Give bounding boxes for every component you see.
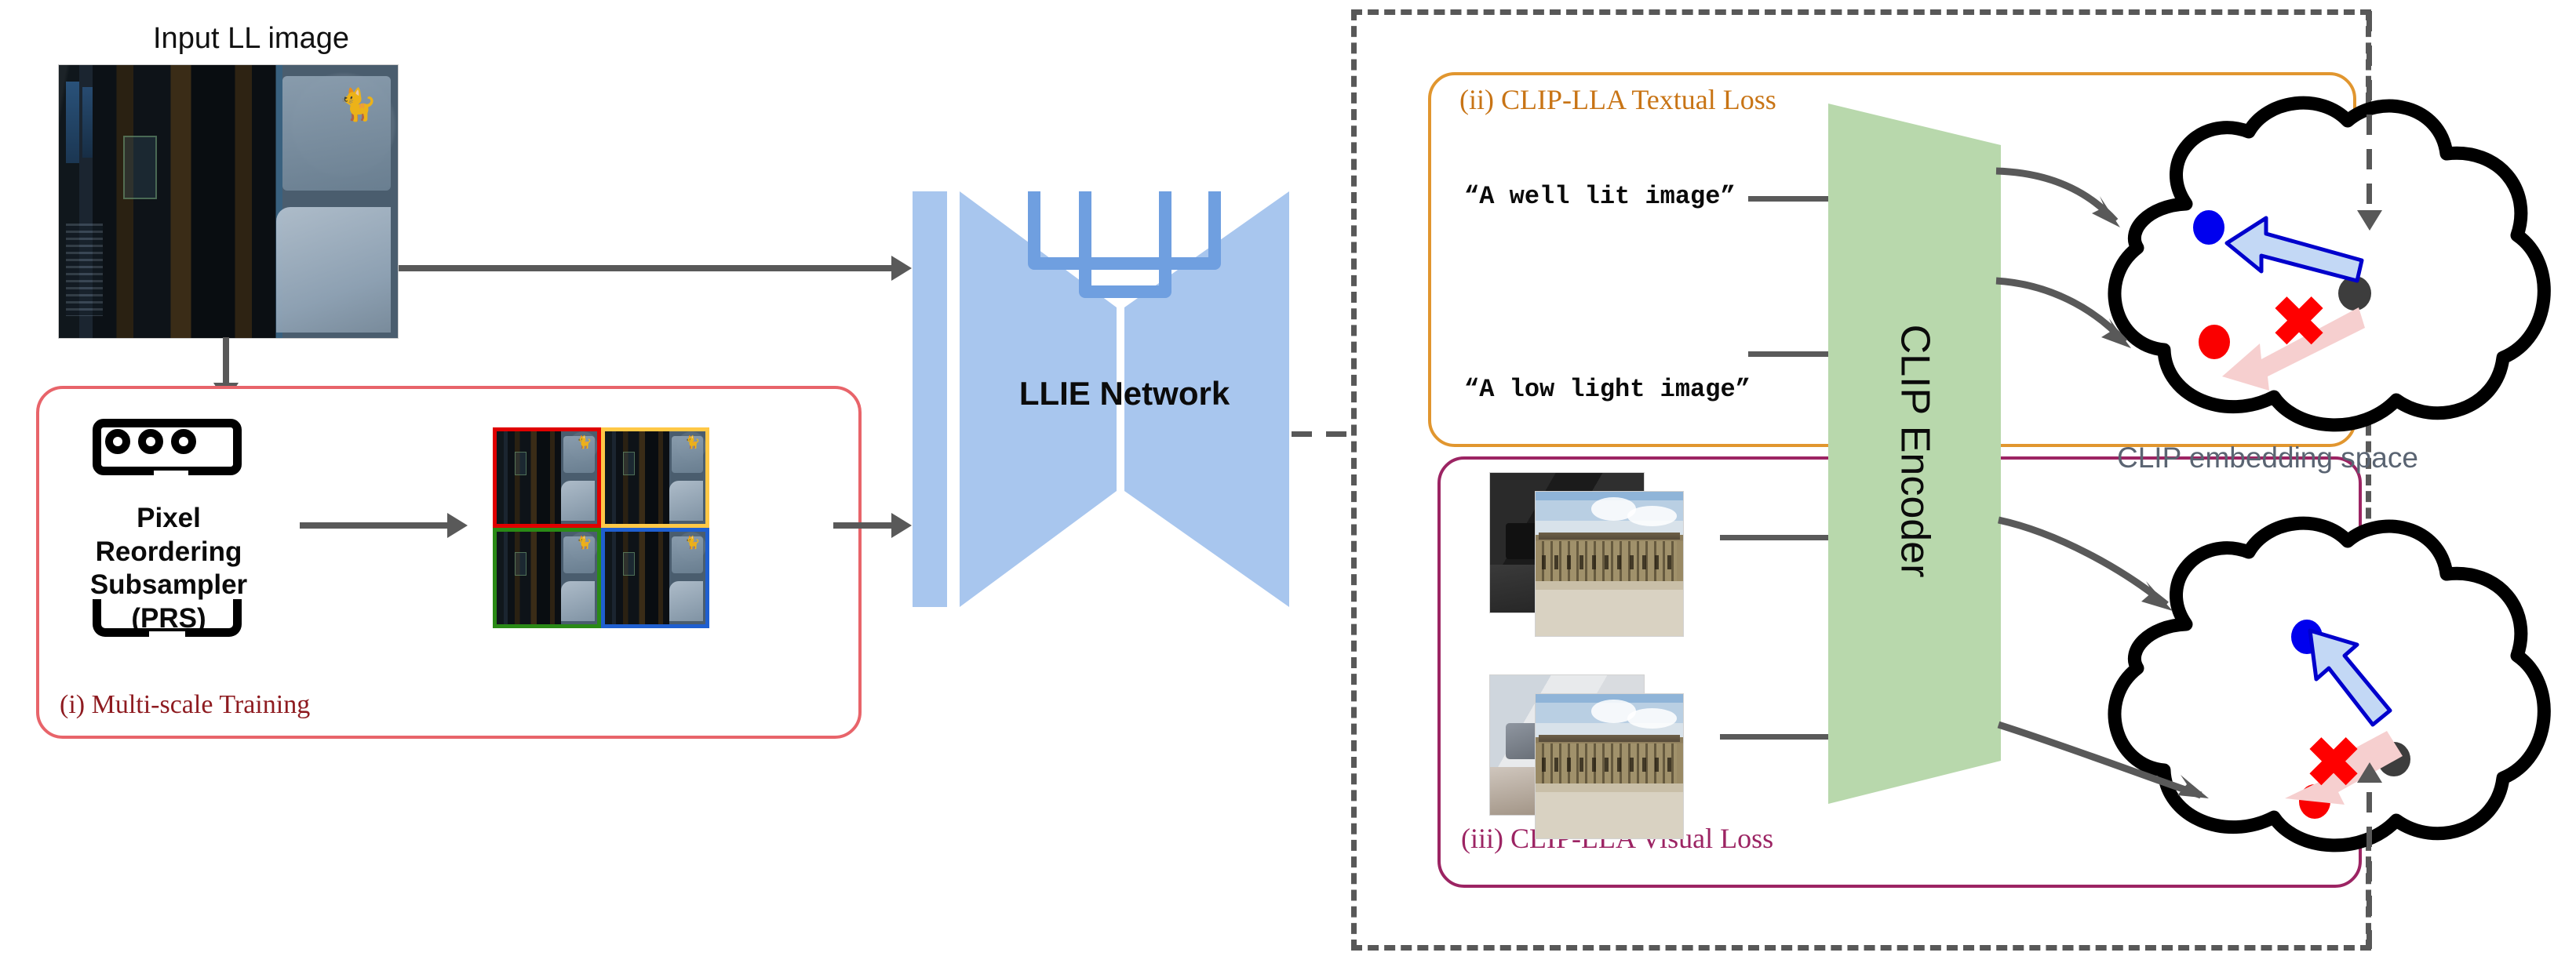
- input-image-title: Input LL image: [110, 22, 392, 56]
- panel-textual-loss-label: (ii) CLIP-LLA Textual Loss: [1459, 83, 1776, 116]
- text-prompt-well-lit: “A well lit image”: [1464, 182, 1736, 211]
- prs-label-line1: Pixel Reordering: [63, 502, 275, 569]
- image-frame-detail: [123, 136, 157, 199]
- prs-module-icon: [93, 419, 242, 475]
- arrow-input-to-prs-line: [223, 337, 229, 386]
- arrow-input-to-network-head: [891, 256, 912, 281]
- network-label: LLIE Network: [960, 375, 1289, 413]
- clip-encoder-label: CLIP Encoder: [1828, 98, 2001, 804]
- image-pair-1: [1489, 472, 1693, 637]
- reject-x-mark-bottom: ✖: [2305, 729, 2362, 797]
- figure-canvas: Input LL image 🐈 (i) Multi-scale Trainin…: [0, 0, 2576, 967]
- line-image1-to-encoder: [1720, 535, 1845, 540]
- clip-encoder-label-text: CLIP Encoder: [1891, 325, 1938, 578]
- feedback-dashed-line-top: [2366, 11, 2372, 213]
- image-pair-2-louvre: [1535, 693, 1684, 839]
- tile-bottom-left: 🐈: [493, 528, 601, 628]
- network-input-bar: [913, 191, 947, 607]
- prs-tile-grid: 🐈 🐈 🐈 🐈: [493, 427, 709, 628]
- text-prompt-low-light: “A low light image”: [1464, 375, 1751, 404]
- arrow-encoder-to-red-point: [1993, 267, 2173, 416]
- prs-bracket-icon: [93, 599, 242, 637]
- arrow-tiles-to-network-line: [833, 522, 891, 529]
- arrow-tiles-to-network-head: [891, 513, 912, 538]
- tile-top-left: 🐈: [493, 427, 601, 528]
- arrow-prs-to-tiles-line: [300, 522, 447, 529]
- image-shelf-detail: [66, 82, 79, 163]
- tile-top-right: 🐈: [601, 427, 709, 528]
- image-books-detail: [66, 224, 104, 316]
- tile-bottom-right: 🐈: [601, 528, 709, 628]
- arrow-prs-to-tiles-head: [447, 513, 468, 538]
- line-image2-to-encoder: [1720, 734, 1845, 740]
- image-pair-1-louvre: [1535, 491, 1684, 637]
- image-pair-2: [1489, 674, 1693, 839]
- marker-blue-well-lit-top: [2193, 210, 2224, 245]
- reject-x-mark-top: ✖: [2271, 289, 2327, 356]
- arrow-encoder-to-red-point-bottom: [1997, 715, 2248, 825]
- network-to-loss-dashed-connector: [1292, 431, 1354, 437]
- cat-sticker-icon: 🐈: [338, 89, 377, 121]
- embedding-space-caption: CLIP embedding space: [2117, 442, 2418, 474]
- feedback-arrow-head-bottom: [2357, 762, 2382, 783]
- arrow-encoder-to-blue-point-bottom: [1997, 514, 2217, 655]
- feedback-arrow-head-top: [2357, 210, 2382, 231]
- image-shelf-detail-2: [82, 87, 93, 158]
- feedback-dashed-line-bottom: [2366, 792, 2372, 949]
- image-laptop-base: [276, 207, 392, 333]
- input-ll-image: 🐈: [58, 64, 399, 339]
- panel-multi-scale-training-label: (i) Multi-scale Training: [60, 690, 310, 720]
- arrow-input-to-network-line: [399, 265, 891, 271]
